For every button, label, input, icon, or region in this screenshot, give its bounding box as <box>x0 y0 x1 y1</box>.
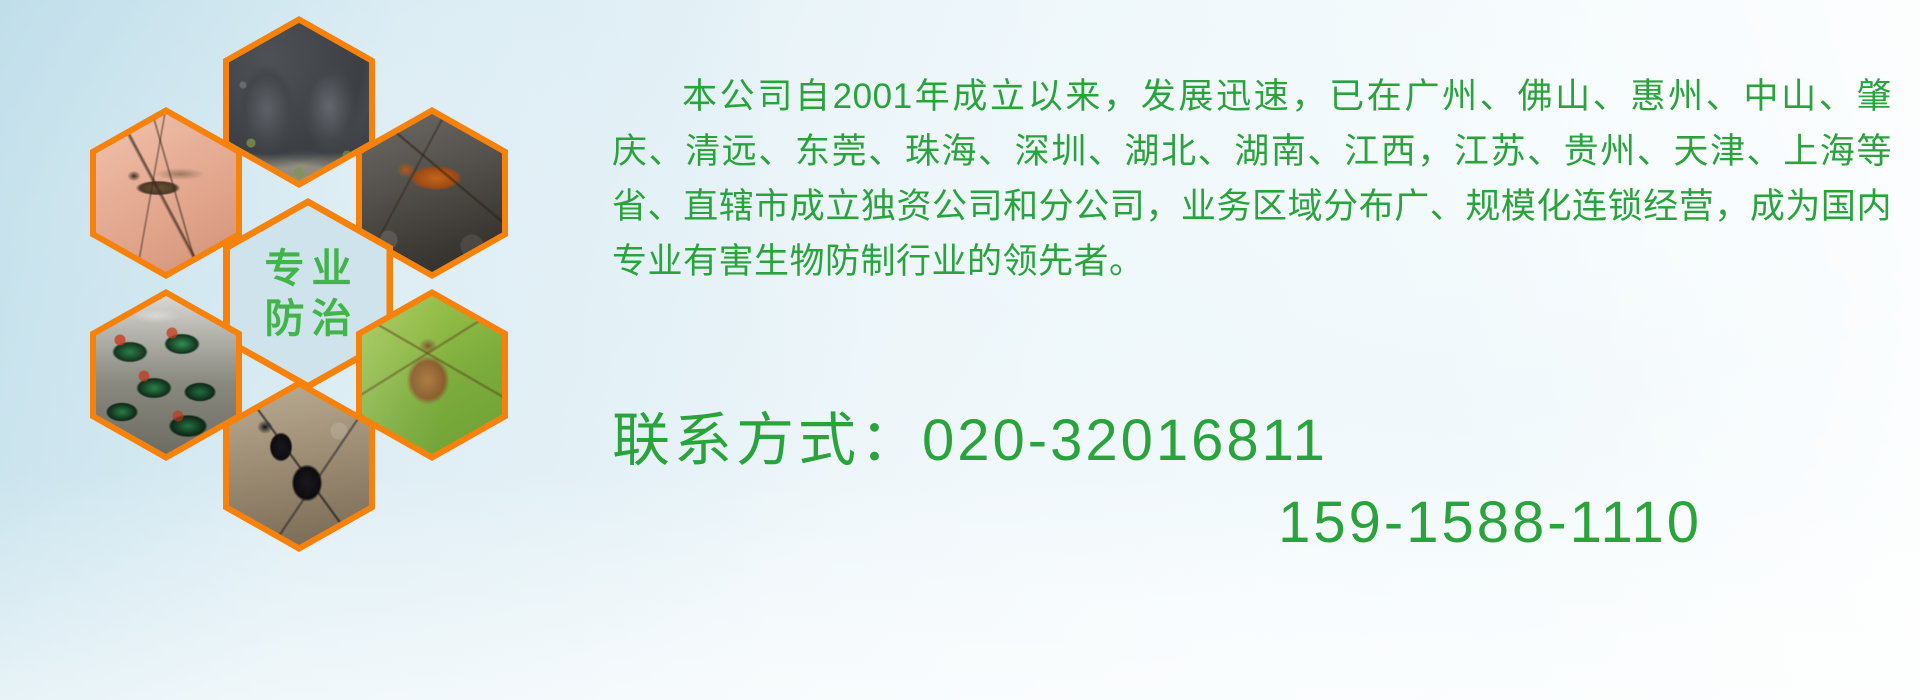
rats-photo <box>223 16 375 188</box>
flies-photo <box>90 289 242 461</box>
contact-block: 联系方式：020-32016811 159-1588-1110 <box>612 400 1902 564</box>
mosquito-photo <box>90 107 242 279</box>
logo-line-1: 专业 <box>258 249 359 289</box>
contact-secondary-line: 159-1588-1110 <box>612 482 1902 564</box>
ants-image <box>229 387 369 545</box>
flies-image <box>96 296 236 454</box>
ants-photo <box>223 380 375 552</box>
phone-primary[interactable]: 020-32016811 <box>922 408 1328 473</box>
honeycomb-photo-cluster: 专业 防治 <box>90 8 590 568</box>
rats-image <box>229 23 369 181</box>
stink-bug-image <box>362 296 502 454</box>
logo-line-2: 防治 <box>258 299 359 339</box>
company-description: 本公司自2001年成立以来，发展迅速，已在广州、佛山、惠州、中山、肇庆、清远、东… <box>612 69 1892 289</box>
company-description-block: 本公司自2001年成立以来，发展迅速，已在广州、佛山、惠州、中山、肇庆、清远、东… <box>612 34 1892 324</box>
mosquito-image <box>96 114 236 272</box>
promo-banner: 专业 防治 本公司自2001年成立以来，发展迅速，已在广州、佛山、惠州、中山、肇… <box>0 0 1920 700</box>
contact-primary-line: 联系方式：020-32016811 <box>612 400 1902 482</box>
phone-secondary[interactable]: 159-1588-1110 <box>1278 490 1702 555</box>
contact-label: 联系方式： <box>612 408 922 473</box>
